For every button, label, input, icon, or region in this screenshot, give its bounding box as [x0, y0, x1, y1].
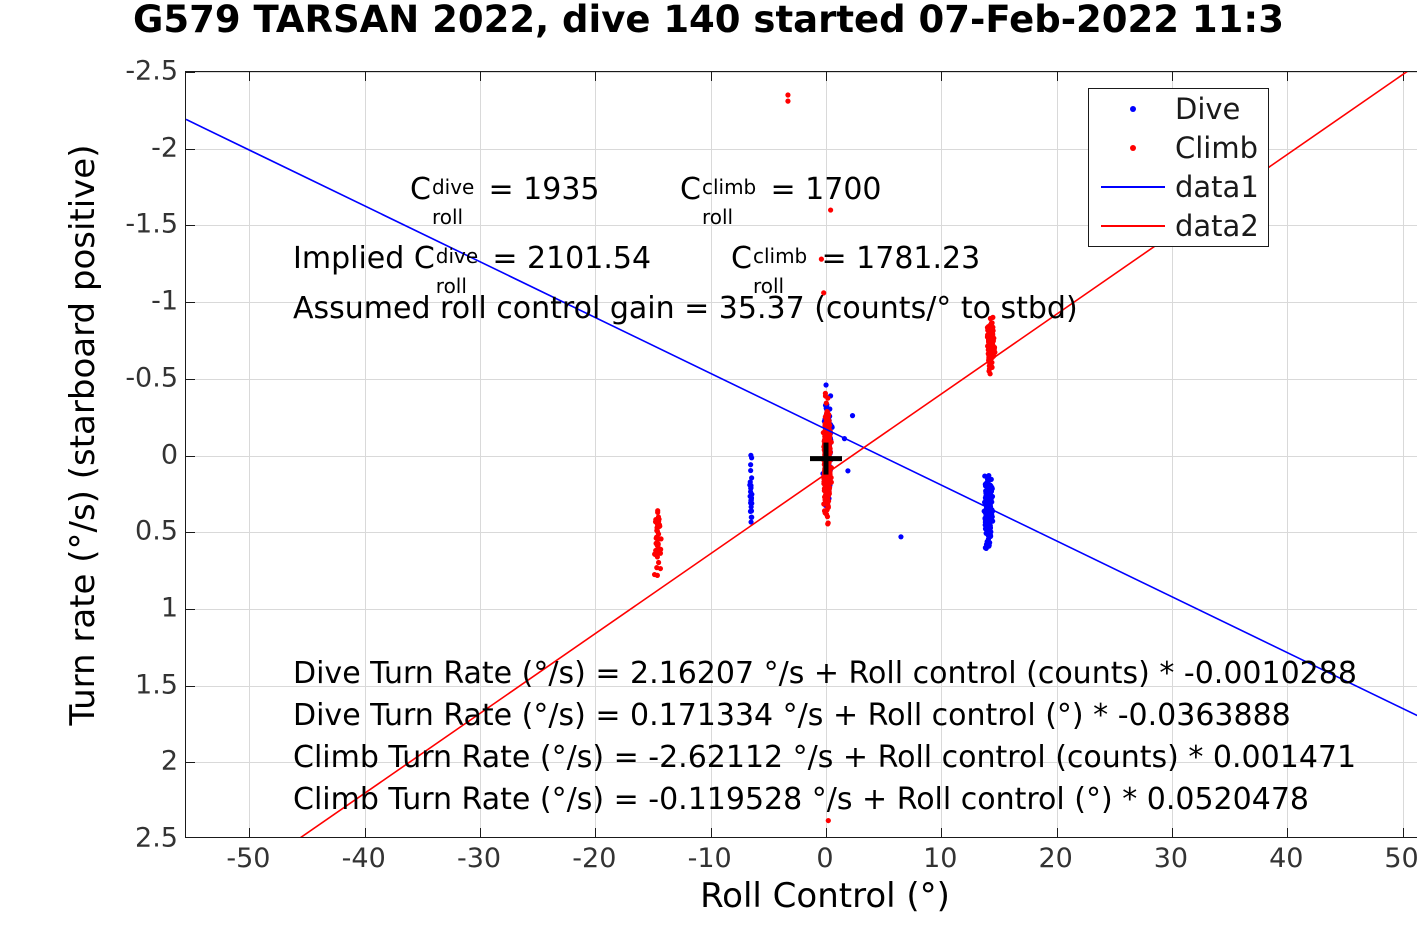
- data-point: [989, 328, 994, 333]
- x-axis-label: Roll Control (°): [185, 876, 1417, 916]
- y-tick-label: 2.5: [135, 823, 178, 854]
- x-tick-label: 20: [1038, 843, 1072, 874]
- x-tick-label: -20: [572, 843, 616, 874]
- croll-climb-value: = 1700: [761, 172, 882, 207]
- data-point: [825, 409, 830, 414]
- data-point: [825, 422, 830, 427]
- y-tick-label: 1: [161, 592, 178, 623]
- annotation-implied-climb: Cclimbroll = 1781.23: [731, 244, 980, 274]
- legend-item-climb[interactable]: Climb: [1089, 128, 1270, 167]
- legend-label-climb: Climb: [1175, 131, 1258, 165]
- x-tick-label: -50: [226, 843, 270, 874]
- data-point: [748, 479, 753, 484]
- data-point: [984, 531, 989, 536]
- data-point: [984, 483, 989, 488]
- climb-marker-icon: [1130, 145, 1136, 151]
- equation-dive-degrees: Dive Turn Rate (°/s) = 0.171334 °/s + Ro…: [293, 701, 1291, 731]
- data-point: [785, 99, 790, 104]
- data-point: [749, 495, 754, 500]
- data-point: [748, 453, 753, 458]
- data-point: [826, 505, 831, 510]
- legend-item-data2[interactable]: data2: [1089, 206, 1270, 245]
- data-point: [653, 541, 658, 546]
- x-tick-label: -40: [342, 843, 386, 874]
- y-tick-label: -1.5: [125, 209, 178, 240]
- equation-climb-counts: Climb Turn Rate (°/s) = -2.62112 °/s + R…: [293, 743, 1356, 773]
- annotation-implied-dive: Implied Cdiveroll = 2101.54: [293, 244, 651, 274]
- data-point: [655, 508, 660, 513]
- y-tick-label: -0.5: [125, 362, 178, 393]
- x-tick-label: 40: [1269, 843, 1303, 874]
- x-tick-label: -30: [457, 843, 501, 874]
- annotation-croll-climb: Cclimbroll = 1700: [680, 175, 882, 205]
- data-point: [988, 515, 993, 520]
- x-tick-label: 0: [816, 843, 833, 874]
- chart-legend[interactable]: Dive Climb data1 data2: [1088, 88, 1269, 247]
- data-point: [823, 391, 828, 396]
- data-point: [748, 468, 753, 473]
- annotation-roll-gain: Assumed roll control gain = 35.37 (count…: [293, 294, 1078, 324]
- data-point: [785, 92, 790, 97]
- legend-label-data2: data2: [1175, 209, 1259, 243]
- croll-climb-symbol: C: [680, 172, 701, 207]
- chart-title: G579 TARSAN 2022, dive 140 started 07-Fe…: [0, 0, 1417, 41]
- equation-climb-degrees: Climb Turn Rate (°/s) = -0.119528 °/s + …: [293, 785, 1309, 815]
- data-point: [654, 536, 659, 541]
- dive-marker-icon: [1130, 106, 1136, 112]
- data-point: [748, 462, 753, 467]
- data-point: [985, 477, 990, 482]
- legend-label-data1: data1: [1175, 170, 1259, 204]
- x-tick-label: 50: [1384, 843, 1417, 874]
- implied-climb-symbol: C: [731, 241, 752, 276]
- data-point: [657, 522, 662, 527]
- data-point: [986, 351, 991, 356]
- data-point: [986, 490, 991, 495]
- implied-climb-value: = 1781.23: [812, 241, 980, 276]
- annotation-croll-dive: Cdiveroll = 1935: [410, 175, 600, 205]
- data-point: [654, 548, 659, 553]
- data-point: [656, 560, 661, 565]
- data-point: [826, 818, 831, 823]
- data-point: [749, 501, 754, 506]
- data-point: [654, 565, 659, 570]
- data1-line-icon: [1101, 186, 1165, 188]
- data-point: [850, 413, 855, 418]
- data-point: [826, 520, 831, 525]
- data-point: [987, 366, 992, 371]
- data-point: [824, 512, 829, 517]
- data-point: [825, 492, 830, 497]
- data-point: [988, 342, 993, 347]
- data-point: [826, 484, 831, 489]
- legend-label-dive: Dive: [1175, 92, 1240, 126]
- data-point: [989, 335, 994, 340]
- data-point: [983, 545, 988, 550]
- data-point: [823, 497, 828, 502]
- y-tick-label: 0: [161, 439, 178, 470]
- data2-line-icon: [1101, 225, 1165, 227]
- x-tick-label: 30: [1154, 843, 1188, 874]
- y-axis-label: Turn rate (°/s) (starboard positive): [63, 55, 103, 815]
- data-point: [825, 396, 830, 401]
- y-tick-label: -2: [151, 132, 178, 163]
- data-point: [845, 468, 850, 473]
- data-point: [988, 526, 993, 531]
- croll-dive-symbol: C: [410, 172, 431, 207]
- data-point: [652, 572, 657, 577]
- y-tick-label: 1.5: [135, 669, 178, 700]
- legend-item-data1[interactable]: data1: [1089, 167, 1270, 206]
- data-point: [748, 486, 753, 491]
- chart-figure: G579 TARSAN 2022, dive 140 started 07-Fe…: [0, 0, 1417, 945]
- x-tick-label: -10: [688, 843, 732, 874]
- y-tick-label: 2: [161, 746, 178, 777]
- equation-dive-counts: Dive Turn Rate (°/s) = 2.16207 °/s + Rol…: [293, 659, 1357, 689]
- data-point: [828, 207, 833, 212]
- data-point: [655, 529, 660, 534]
- x-tick-label: 10: [923, 843, 957, 874]
- data-point: [988, 371, 993, 376]
- croll-dive-value: = 1935: [479, 172, 600, 207]
- implied-dive-prefix: Implied C: [293, 241, 435, 276]
- data-point: [749, 508, 754, 513]
- data-point: [985, 495, 990, 500]
- data-point: [823, 382, 828, 387]
- data-point: [898, 534, 903, 539]
- y-tick-label: 0.5: [135, 516, 178, 547]
- y-tick-label: -1: [151, 286, 178, 317]
- legend-item-dive[interactable]: Dive: [1089, 89, 1270, 128]
- data-point: [749, 515, 754, 520]
- implied-dive-value: = 2101.54: [483, 241, 651, 276]
- data-point: [824, 400, 829, 405]
- y-tick-label: -2.5: [125, 56, 178, 87]
